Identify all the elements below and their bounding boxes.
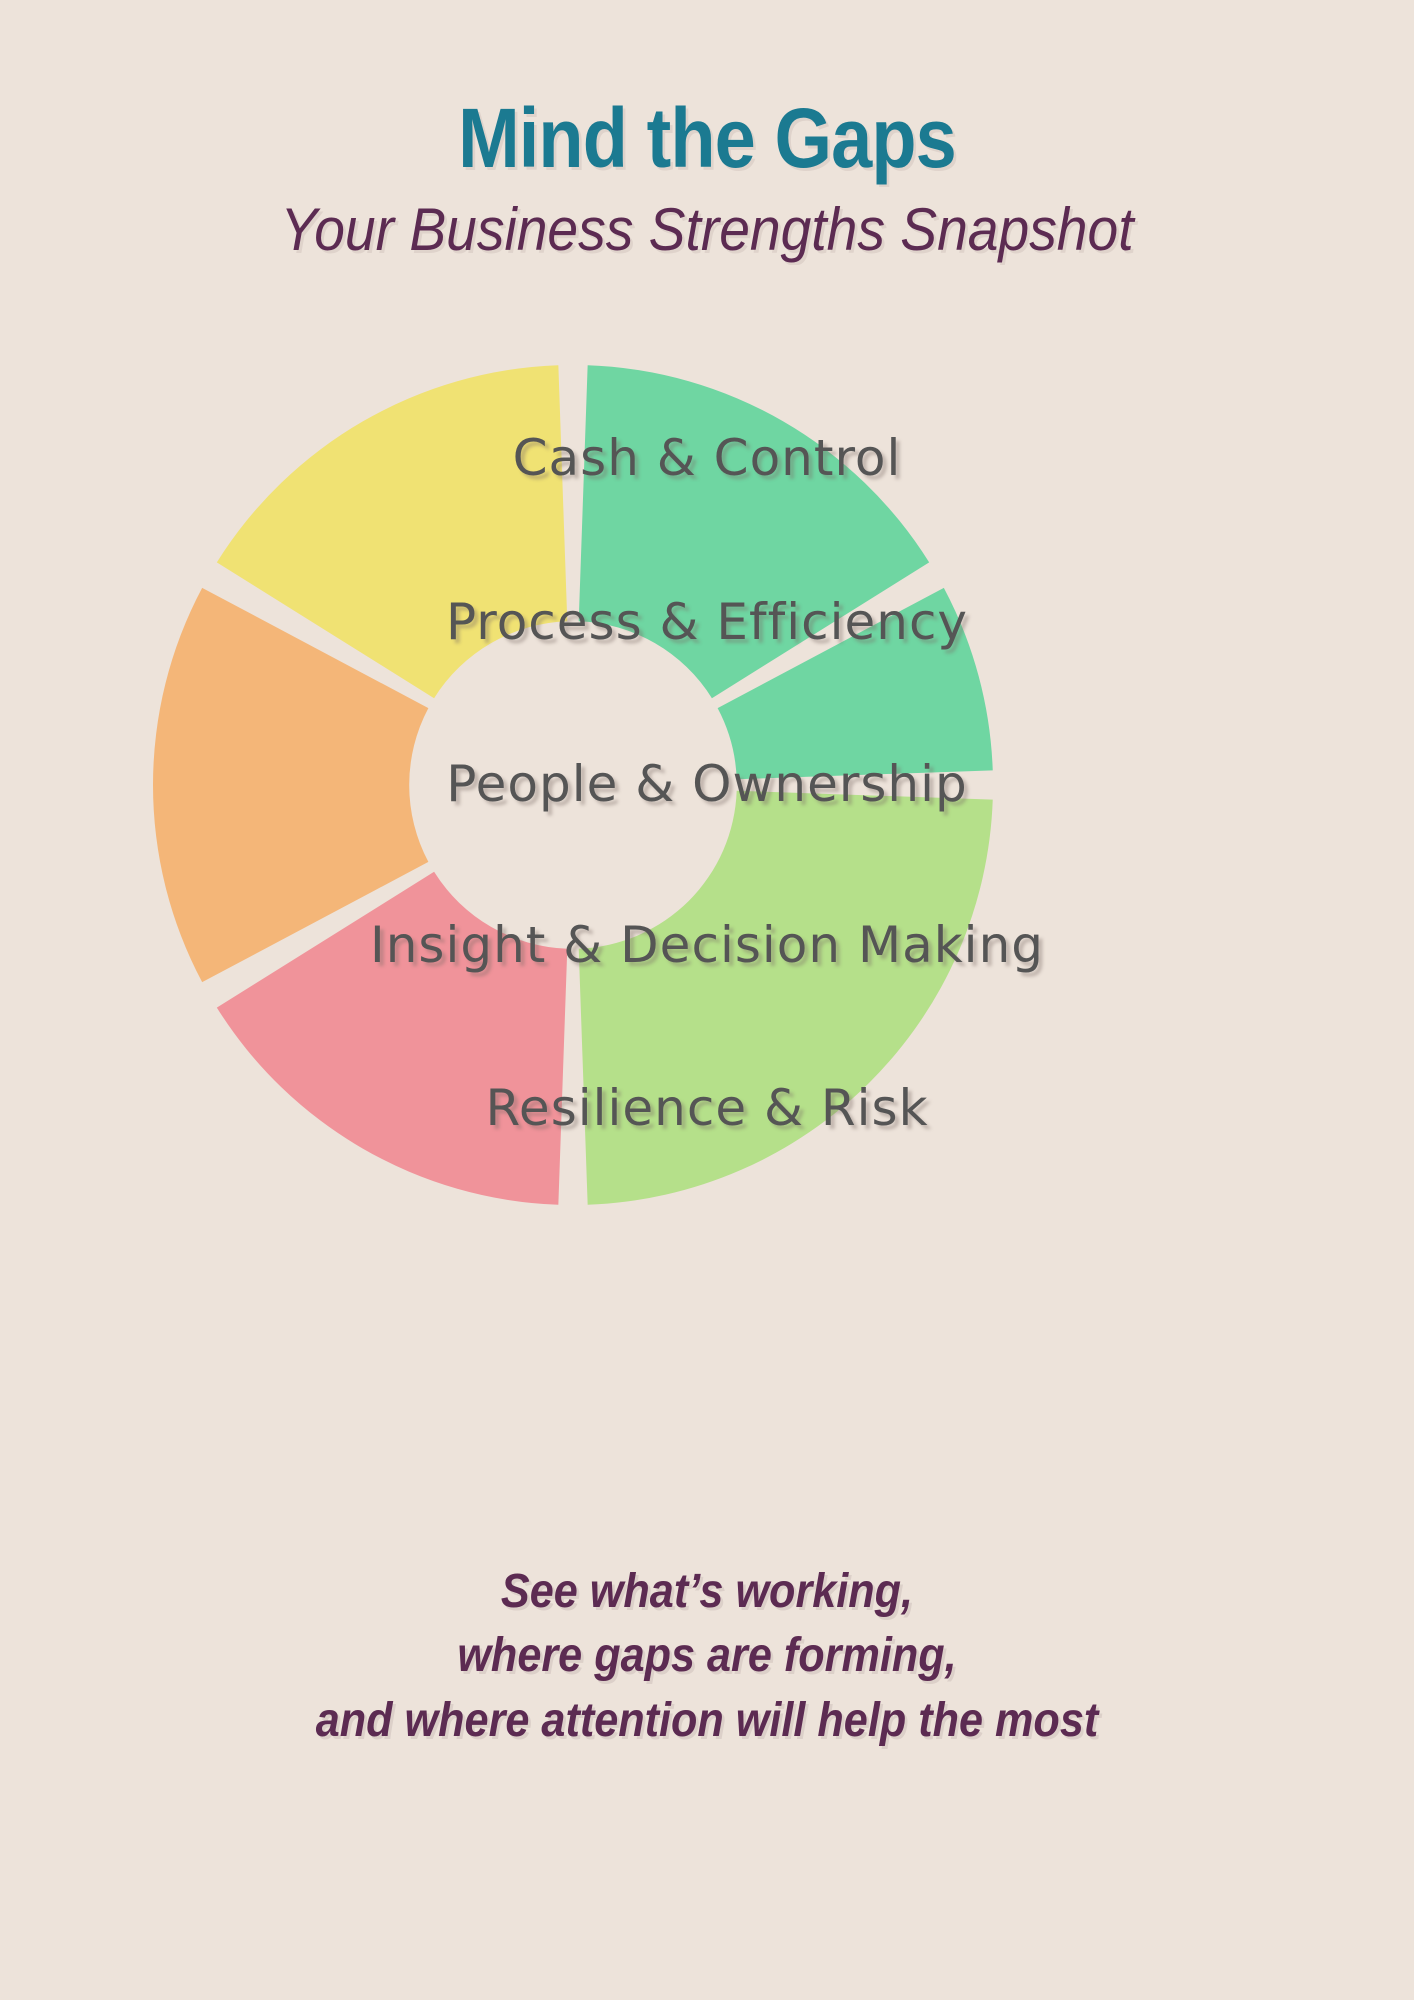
donut-chart (153, 365, 993, 1205)
poster-page: Mind the Gaps Your Business Strengths Sn… (0, 0, 1414, 2000)
tagline-line-3: and where attention will help the most (71, 1689, 1344, 1753)
donut-chart-svg (153, 365, 993, 1205)
page-subtitle: Your Business Strengths Snapshot (57, 180, 1358, 260)
page-title: Mind the Gaps (85, 0, 1329, 180)
poster-tagline: See what’s working, where gaps are formi… (71, 1560, 1344, 1753)
tagline-line-2: where gaps are forming, (71, 1624, 1344, 1688)
donut-segment[interactable] (579, 791, 993, 1205)
poster-header: Mind the Gaps Your Business Strengths Sn… (0, 0, 1414, 260)
donut-segment-group (153, 365, 993, 1204)
tagline-line-1: See what’s working, (71, 1560, 1344, 1624)
